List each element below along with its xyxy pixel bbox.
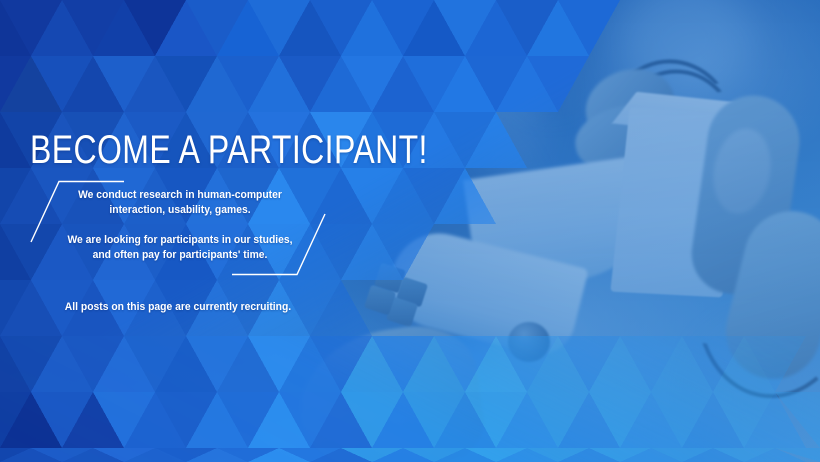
quote-text: We conduct research in human-computer in… (63, 188, 296, 263)
page-title: BECOME A PARTICIPANT! (30, 128, 428, 172)
quote-paragraph-1: We conduct research in human-computer in… (63, 188, 296, 218)
banner-content: BECOME A PARTICIPANT! We conduct researc… (0, 0, 420, 462)
quote-block: We conduct research in human-computer in… (28, 180, 328, 276)
quote-paragraph-2: We are looking for participants in our s… (63, 233, 296, 263)
become-a-participant-banner: BECOME A PARTICIPANT! We conduct researc… (0, 0, 820, 462)
recruiting-note: All posts on this page are currently rec… (37, 300, 319, 315)
